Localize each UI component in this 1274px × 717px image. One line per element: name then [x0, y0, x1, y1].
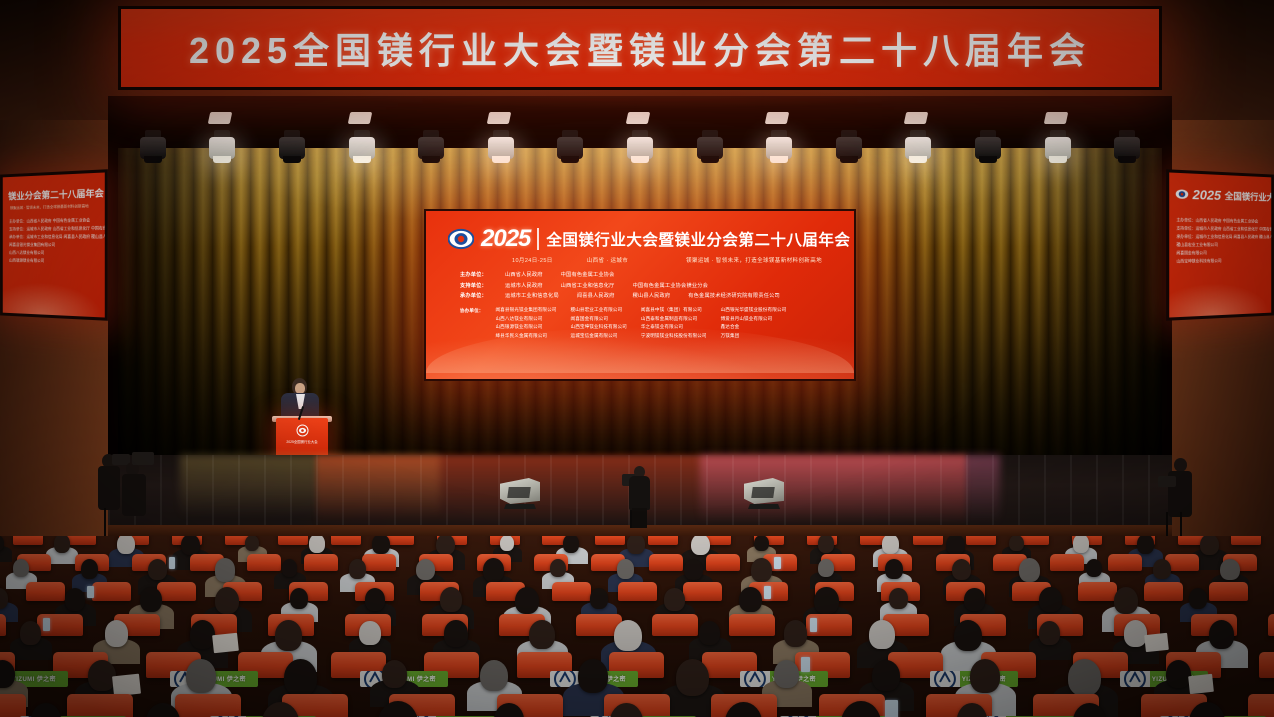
audience-member-head — [691, 536, 710, 555]
audience-phone-screen — [801, 657, 809, 672]
left-screen-body: 主办单位：山西省人民政府 中国有色金属工业协会支持单位：运城市人民政府 山西省工… — [9, 218, 100, 264]
left-screen-title: 镁业分会第二十八届年会 — [8, 186, 104, 202]
organizer-name: 有色金属技术经济研究院有限责任公司 — [688, 292, 780, 299]
left-screen-slogan: 镁聚运城 · 智领未来，打造全球镁基新材料创新高地 — [10, 204, 99, 211]
left-side-led-screen: 镁业分会第二十八届年会 镁聚运城 · 智领未来，打造全球镁基新材料创新高地 主办… — [0, 169, 108, 321]
auditorium-seat — [1209, 582, 1248, 601]
side-screen-line: 山西宝坤镁业科技有限公司 — [1176, 259, 1266, 265]
auditorium-seat — [0, 614, 6, 636]
organizer-name: 运城市人民政府 — [505, 282, 543, 289]
organizer-name: 山西省工业和信息化厅 — [561, 282, 615, 289]
auditorium-seat — [92, 582, 131, 601]
audience-member-head — [20, 621, 41, 645]
audience-member-head — [483, 558, 504, 582]
stage-light — [205, 130, 239, 170]
audience-member-head — [140, 587, 162, 612]
audience-member-head — [290, 588, 308, 609]
audience-phone-screen — [169, 557, 175, 568]
stage-monitor-left — [500, 478, 540, 504]
audience-member-head — [617, 559, 634, 579]
organizer-label: 主办单位： — [460, 271, 487, 278]
audience-member-head — [1039, 621, 1060, 645]
audience-member-head — [1166, 660, 1191, 688]
stage-light — [832, 130, 866, 170]
audience-member-head — [186, 659, 216, 693]
auditorium-seat — [1268, 614, 1274, 636]
conference-logo-icon — [296, 424, 309, 437]
auditorium-seat — [706, 554, 740, 571]
audience-document — [1188, 674, 1214, 694]
audience-member-head — [309, 536, 325, 553]
stage-light — [414, 130, 448, 170]
audience-member-head — [372, 536, 390, 554]
side-screen-line: 承办单位：运城市工业和信息化局 闻喜县人民政府 稷山县人民政府 有色金属技术经济… — [1176, 235, 1266, 240]
supporter-name: 博爱县月山镁业有限公司 — [721, 316, 787, 322]
audience-member-head — [444, 620, 467, 646]
audience-member-head — [1200, 536, 1219, 555]
left-photographer-group — [92, 446, 152, 542]
organizer-name: 山西省人民政府 — [505, 271, 543, 278]
supporter-name: 山西泰和金属制品有限公司 — [641, 316, 707, 322]
seat-row — [0, 582, 1274, 601]
organizer-label: 承办单位： — [460, 292, 487, 299]
audience-member-head — [81, 559, 98, 579]
audience-member-head — [952, 559, 971, 581]
audience-member-head — [774, 660, 799, 688]
audience-member-head — [676, 659, 709, 696]
audience-phone-screen — [810, 618, 818, 632]
audience-member-head — [684, 559, 703, 581]
audience-member-head — [754, 536, 768, 551]
auditorium-seat — [362, 554, 396, 571]
auditorium-seat — [247, 554, 281, 571]
side-screen-line: 闻喜县银光镁业集团有限公司 — [9, 243, 100, 248]
side-screen-line: 山西银源镁业有限公司 — [9, 259, 100, 265]
organizer-name: 运城市工业和信息化局 — [505, 292, 559, 299]
audience-member-head — [885, 559, 902, 579]
right-screen-body: 主办单位：山西省人民政府 中国有色金属工业协会支持单位：运城市人民政府 山西省工… — [1176, 218, 1266, 264]
audience-member-head — [784, 620, 807, 646]
yizumi-logo-icon — [930, 671, 960, 687]
audience-member-head — [664, 588, 684, 611]
supporter-name: 绛县华民义金属有限公司 — [495, 333, 556, 339]
supporter-name: 山西银光华盛镁业股份有限公司 — [721, 307, 787, 313]
led-date: 10月24日-25日 — [512, 256, 553, 264]
led-header: 2025 全国镁行业大会暨镁业分会第二十八届年会 — [426, 219, 854, 259]
auditorium-seat — [1248, 694, 1274, 717]
led-divider — [537, 228, 539, 250]
audience-member-head — [739, 587, 761, 612]
supporter-column: 闻喜县银光镁业集团有限公司山西八达镁业有限公司山西银源镁业有限公司绛县华民义金属… — [495, 307, 556, 339]
audience-member-head — [869, 620, 895, 649]
audience-member-head — [275, 620, 303, 651]
audience-member-head — [627, 536, 645, 554]
seat-row — [0, 554, 1274, 571]
audience-member-head — [1137, 536, 1155, 554]
audience-member-head — [1153, 559, 1170, 579]
side-screen-line: 山西八达镁业有限公司 — [9, 251, 100, 257]
left-screen-header: 镁业分会第二十八届年会 — [8, 186, 100, 202]
auditorium-seat — [1144, 582, 1183, 601]
audience-seating: YIZUMI 伊之密YIZUMI 伊之密YIZUMI 伊之密YIZUMI 伊之密… — [0, 536, 1274, 717]
supporter-name: 山西宝坤镁业科技有限公司 — [571, 324, 627, 330]
supporter-name: 稷山县宏业工业有限公司 — [571, 307, 627, 313]
audience-member-head — [215, 558, 236, 582]
audience-phone-screen — [87, 586, 94, 598]
audience-member-head — [529, 620, 555, 649]
stage-light — [623, 130, 657, 170]
stage-light — [901, 130, 935, 170]
organizer-label: 支持单位： — [460, 282, 487, 289]
audience-member-head — [436, 536, 455, 555]
audience-document — [1144, 633, 1168, 652]
auditorium-seat — [913, 536, 943, 545]
stage-monitor-right — [744, 478, 784, 504]
audience-phone-screen — [43, 618, 50, 630]
supporter-name: 万镁集团 — [721, 333, 787, 339]
right-screen-title: 全国镁行业大 — [1225, 189, 1274, 203]
audience-member-head — [54, 536, 70, 553]
audience-member-head — [284, 659, 317, 696]
stage-light — [136, 130, 170, 170]
supporter-name: 山西银源镁业有限公司 — [495, 324, 556, 330]
right-screen-year: 2025 — [1193, 187, 1221, 203]
audience-member-head — [440, 587, 462, 612]
audience-member-head — [1220, 559, 1239, 581]
audience-member-head — [590, 588, 608, 609]
audience-member-head — [1068, 659, 1101, 696]
auditorium-seat — [331, 536, 361, 545]
led-supporters: 协办单位： 闻喜县银光镁业集团有限公司山西八达镁业有限公司山西银源镁业有限公司绛… — [460, 307, 840, 339]
audience-phone-screen — [764, 586, 771, 599]
supporter-column: 闻喜县中镁（集团）有限公司山西泰和金属制品有限公司华之泰镁业有限公司宁波明镁镁业… — [641, 307, 707, 339]
audience-member-head — [117, 536, 135, 554]
top-led-banner: 2025全国镁行业大会暨镁业分会第二十八届年会 — [118, 6, 1162, 90]
audience-member-head — [1086, 559, 1102, 577]
audience-member-head — [1209, 620, 1235, 649]
audience-member-head — [563, 536, 579, 553]
auditorium-scene: 2025全国镁行业大会暨镁业分会第二十八届年会 2025 全国镁行业大会暨镁业分… — [0, 0, 1274, 717]
right-screen-wave — [1169, 270, 1271, 317]
led-subtitle-row: 10月24日-25日 山西省 · 运城市 镁聚运城 · 智领未来，打造全球镁基新… — [512, 256, 844, 264]
audience-member-head — [382, 660, 407, 688]
audience-member-head — [818, 559, 834, 577]
audience-member-head — [814, 587, 838, 614]
audience-member-head — [148, 559, 167, 581]
supporter-name: 山西八达镁业有限公司 — [495, 316, 556, 322]
supporters-label: 协办单位： — [460, 307, 483, 339]
audience-member-head — [970, 659, 1000, 693]
side-screen-line: 主办单位：山西省人民政府 中国有色金属工业协会 — [1176, 218, 1266, 224]
audience-member-head — [954, 620, 982, 651]
supporter-name: 闻喜县中镁（集团）有限公司 — [641, 307, 707, 313]
supporter-name: 闻喜国金有限公司 — [571, 316, 627, 322]
audience-member-head — [1039, 587, 1061, 612]
auditorium-seat — [26, 582, 65, 601]
audience-member-head — [964, 588, 984, 611]
audience-member-head — [1073, 536, 1089, 553]
side-screen-line: 承办单位：运城市工业和信息化局 闻喜县人民政府 稷山县人民政府 有色金属技术经济… — [9, 235, 100, 240]
led-slogan: 镁聚运城 · 智领未来，打造全球镁基新材料创新高地 — [686, 256, 822, 264]
supporter-name: 宁波明镁镁业科技股份有限公司 — [641, 333, 707, 339]
supporter-column: 稷山县宏业工业有限公司闻喜国金有限公司山西宝坤镁业科技有限公司运城宝信金属有限公… — [571, 307, 627, 339]
audience-member-head — [282, 559, 298, 577]
supporter-column: 山西银光华盛镁业股份有限公司博爱县月山镁业有限公司鑫达合金万镁集团 — [721, 307, 787, 339]
audience-member-head — [1114, 587, 1138, 614]
organizer-row: 承办单位：运城市工业和信息化局闻喜县人民政府稷山县人民政府有色金属技术经济研究院… — [460, 292, 836, 299]
auditorium-seat — [278, 536, 308, 545]
organizer-row: 支持单位：运城市人民政府山西省工业和信息化厅中国有色金属工业协会镁业分会 — [460, 282, 836, 289]
led-location: 山西省 · 运城市 — [587, 256, 629, 264]
auditorium-seat — [1108, 554, 1142, 571]
stage-camera-operator — [624, 466, 654, 528]
auditorium-seat — [66, 536, 96, 545]
audience-member-head — [65, 588, 85, 611]
audience-member-head — [349, 559, 366, 579]
auditorium-seat — [729, 614, 775, 636]
auditorium-seat — [552, 582, 591, 601]
auditorium-seat — [618, 582, 657, 601]
side-screen-line: 闻喜国金有限公司 — [1176, 251, 1266, 257]
side-screen-line: 稷山县宏业工业有限公司 — [1176, 243, 1266, 248]
led-main-title: 全国镁行业大会暨镁业分会第二十八届年会 — [546, 228, 850, 250]
stage-light — [1110, 130, 1144, 170]
audience-document — [212, 633, 238, 654]
audience-member-head — [515, 587, 539, 614]
stage-light — [345, 130, 379, 170]
audience-member-head — [365, 588, 385, 611]
stage-lighting-truss — [118, 130, 1162, 172]
organizer-name: 中国有色金属工业协会 — [561, 271, 615, 278]
auditorium-seat — [648, 536, 678, 545]
cnia-logo-icon-right — [1175, 187, 1188, 201]
auditorium-seat — [0, 694, 26, 717]
audience-member-head — [751, 558, 772, 582]
supporter-name: 闻喜县银光镁业集团有限公司 — [495, 307, 556, 313]
organizer-row: 主办单位：山西省人民政府中国有色金属工业协会 — [460, 271, 836, 278]
stage-light — [762, 130, 796, 170]
audience-member-head — [105, 620, 128, 646]
audience-member-head — [181, 536, 200, 555]
side-screen-line: 主办单位：山西省人民政府 中国有色金属工业协会 — [9, 218, 100, 224]
auditorium-seat — [13, 536, 43, 545]
auditorium-seat — [683, 582, 722, 601]
supporter-name: 运城宝信金属有限公司 — [571, 333, 627, 339]
organizer-name: 闻喜县人民政府 — [577, 292, 615, 299]
side-screen-line: 支持单位：运城市人民政府 山西省工业和信息化厅 中国有色金属工业协会镁业分会 — [9, 226, 100, 232]
cnia-logo-icon — [448, 226, 474, 252]
audience-member-head — [872, 660, 900, 691]
supporter-name: 华之泰镁业有限公司 — [641, 324, 707, 330]
auditorium-seat — [157, 582, 196, 601]
audience-member-head — [359, 621, 380, 645]
auditorium-seat — [1050, 554, 1084, 571]
audience-member-head — [13, 559, 29, 577]
audience-member-head — [245, 536, 259, 551]
yizumi-logo-icon — [1120, 671, 1150, 687]
audience-member-head — [946, 536, 965, 555]
audience-member-head — [578, 659, 608, 693]
audience-member-head — [1189, 588, 1207, 609]
right-camera-operator — [1158, 452, 1212, 544]
stage-light — [693, 130, 727, 170]
podium-text-line1: 2025全国镁行业大会 — [281, 440, 323, 445]
audience-member-head — [882, 536, 900, 554]
auditorium-seat — [304, 554, 338, 571]
main-led-screen: 2025 全国镁行业大会暨镁业分会第二十八届年会 10月24日-25日 山西省 … — [424, 209, 856, 381]
audience-member-head — [699, 621, 720, 645]
organizer-name: 稷山县人民政府 — [633, 292, 671, 299]
supporter-name: 鑫达合金 — [721, 324, 787, 330]
auditorium-seat — [966, 536, 996, 545]
audience-member-head — [614, 620, 642, 651]
audience-member-head — [416, 559, 435, 581]
auditorium-seat — [649, 554, 683, 571]
right-screen-header: 2025 全国镁行业大 — [1175, 186, 1267, 204]
organizer-name: 中国有色金属工业协会镁业分会 — [633, 282, 708, 289]
audience-member-head — [550, 559, 566, 577]
audience-member-head — [1124, 620, 1147, 646]
top-banner-title: 2025全国镁行业大会暨镁业分会第二十八届年会 — [189, 22, 1091, 74]
audience-member-head — [480, 660, 508, 691]
audience-member-head — [215, 587, 239, 614]
stage-light — [553, 130, 587, 170]
auditorium-seat — [1231, 536, 1261, 545]
stage-light — [971, 130, 1005, 170]
stage-light — [484, 130, 518, 170]
audience-member-head — [818, 536, 834, 553]
auditorium-seat — [652, 614, 698, 636]
supporters-columns: 闻喜县银光镁业集团有限公司山西八达镁业有限公司山西银源镁业有限公司绛县华民义金属… — [495, 307, 786, 339]
auditorium-seat — [1259, 652, 1274, 678]
auditorium-seat — [1078, 582, 1117, 601]
auditorium-seat — [595, 536, 625, 545]
side-screen-line: 支持单位：运城市人民政府 山西省工业和信息化厅 中国有色金属工业协会镁业分会 — [1176, 226, 1266, 232]
auditorium-seat — [67, 694, 133, 717]
led-organizers: 主办单位：山西省人民政府中国有色金属工业协会支持单位：运城市人民政府山西省工业和… — [460, 271, 836, 299]
audience-member-head — [889, 588, 907, 609]
stage-light — [275, 130, 309, 170]
right-side-led-screen: 2025 全国镁行业大 主办单位：山西省人民政府 中国有色金属工业协会支持单位：… — [1166, 169, 1274, 321]
audience-member-head — [190, 620, 216, 649]
audience-member-head — [88, 660, 116, 691]
stage-light — [1041, 130, 1075, 170]
audience-member-head — [500, 536, 514, 551]
audience-member-head — [1009, 536, 1023, 551]
led-year: 2025 — [481, 225, 530, 253]
auditorium-seat — [175, 694, 241, 717]
audience-phone-screen — [774, 557, 781, 569]
audience-phone-screen — [885, 700, 898, 717]
left-screen-wave — [3, 270, 105, 317]
audience-member-head — [1019, 558, 1040, 582]
